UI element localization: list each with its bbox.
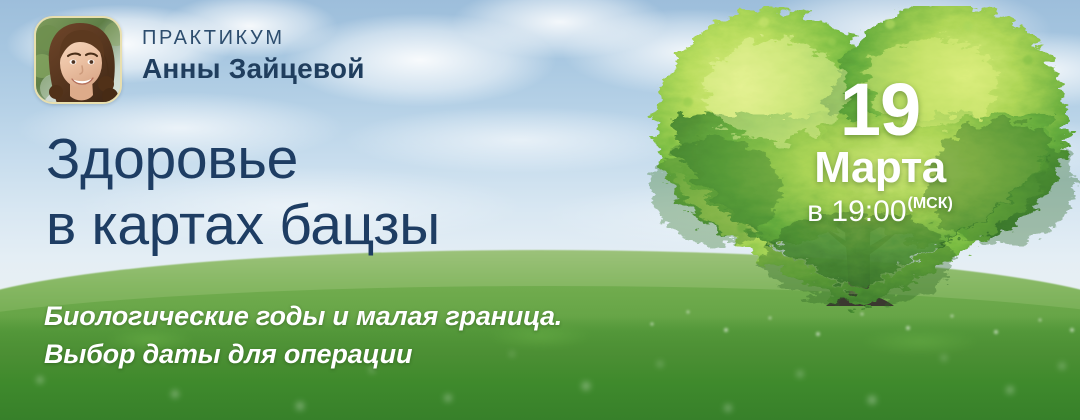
avatar: [34, 16, 122, 104]
page-subtitle: Биологические годы и малая граница. Выбо…: [44, 297, 562, 374]
event-date-block: 19 Марта в 19:00(МСК): [790, 76, 970, 227]
event-time: в 19:00: [807, 195, 906, 228]
page-title: Здоровье в картах бацзы: [46, 126, 440, 258]
subtitle-line-2: Выбор даты для операции: [44, 335, 562, 373]
speaker-name-label: Анны Зайцевой: [142, 55, 365, 83]
event-timezone: (МСК): [908, 195, 953, 212]
speaker-block: ПРАКТИКУМ Анны Зайцевой: [142, 28, 365, 83]
kicker-label: ПРАКТИКУМ: [142, 28, 365, 48]
title-line-2: в картах бацзы: [46, 192, 440, 258]
event-month: Марта: [790, 146, 970, 190]
event-day: 19: [790, 76, 970, 144]
webinar-banner: ПРАКТИКУМ Анны Зайцевой Здоровье в карта…: [0, 0, 1080, 420]
event-time-row: в 19:00(МСК): [790, 196, 970, 227]
subtitle-line-1: Биологические годы и малая граница.: [44, 301, 562, 331]
title-line-1: Здоровье: [46, 127, 298, 191]
